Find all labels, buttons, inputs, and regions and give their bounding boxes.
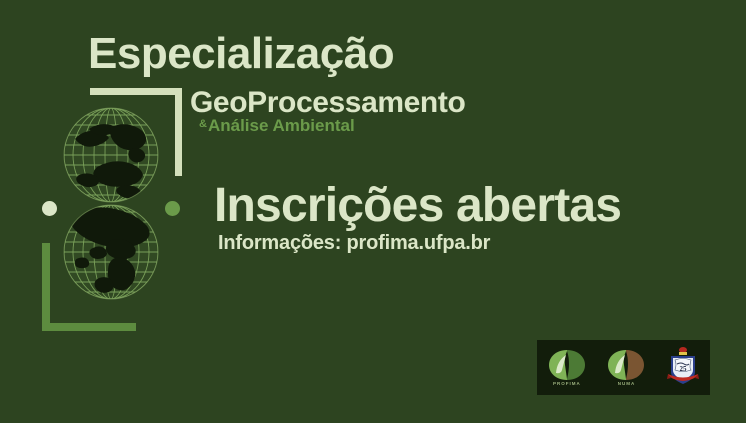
ampersand-glyph: &: [199, 118, 207, 130]
enrollment-headline: Inscrições abertas: [214, 182, 621, 230]
course-subtitle-text: Análise Ambiental: [208, 116, 355, 135]
wireframe-globe-icon-bottom: [59, 200, 163, 304]
course-subtitle: &Análise Ambiental: [199, 117, 355, 134]
bracket-top-vertical-bar: [175, 88, 182, 176]
bracket-bottom-vertical-bar: [42, 243, 50, 331]
bracket-top-horizontal-bar: [90, 88, 182, 95]
dot-cream-icon: [42, 201, 57, 216]
ufpa-crest-logo: 25: [666, 346, 700, 389]
wireframe-globe-icon-top: [59, 103, 163, 207]
program-type-heading: Especialização: [88, 32, 394, 76]
profima-logo-caption: PROFIMA: [553, 382, 581, 387]
course-name-heading: GeoProcessamento: [190, 88, 465, 118]
bracket-bottom-horizontal-bar: [42, 323, 136, 331]
poster-canvas: Especialização GeoProcessamento &Análise…: [0, 0, 746, 423]
numa-logo-caption: NUMA: [618, 382, 636, 387]
profima-logo: PROFIMA: [547, 349, 587, 387]
svg-text:25: 25: [680, 365, 688, 373]
dot-green-icon: [165, 201, 180, 216]
numa-logo: NUMA: [606, 349, 646, 387]
info-contact-line[interactable]: Informações: profima.ufpa.br: [218, 233, 490, 253]
logo-panel: PROFIMA NUMA 25: [537, 340, 710, 395]
